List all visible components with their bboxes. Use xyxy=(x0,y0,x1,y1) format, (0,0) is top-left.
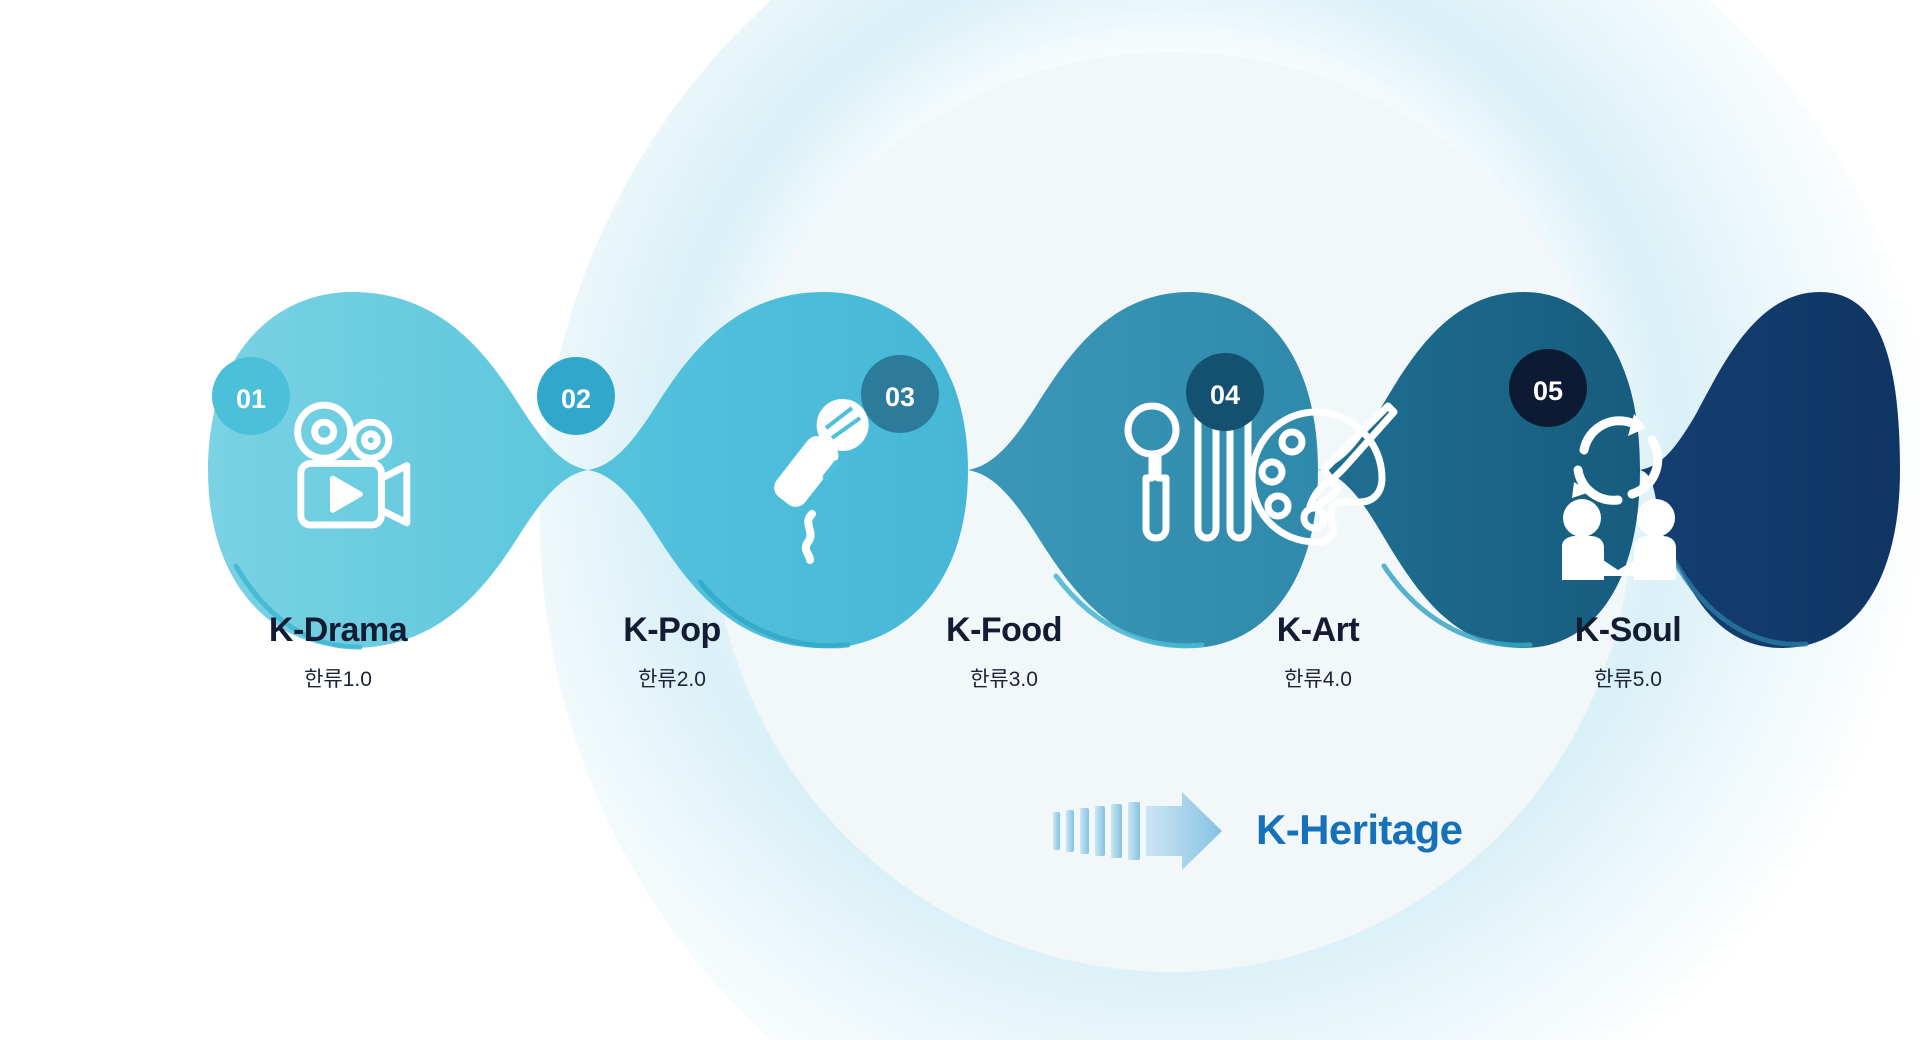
blob-shape-4 xyxy=(1318,292,1640,648)
badge-label-02: 02 xyxy=(561,384,591,414)
wave-chain: 01 02 03 04 05 xyxy=(0,0,1920,1040)
node-blob-k-art[interactable] xyxy=(1318,292,1640,648)
heritage-label: K-Heritage xyxy=(1256,806,1462,854)
node-badge-03[interactable]: 03 xyxy=(861,355,939,433)
badge-label-05: 05 xyxy=(1533,376,1563,406)
blob-shape-2 xyxy=(588,292,968,648)
node-badge-04[interactable]: 04 xyxy=(1186,353,1264,431)
badge-label-04: 04 xyxy=(1210,380,1240,410)
badge-label-03: 03 xyxy=(885,382,915,412)
badge-label-01: 01 xyxy=(236,384,266,414)
infographic-canvas: 01 02 03 04 05 K- xyxy=(0,0,1920,1040)
node-blob-k-pop[interactable] xyxy=(588,292,968,648)
heritage-arrow-spacer xyxy=(1040,790,1230,870)
blob-shape-5 xyxy=(1640,292,1900,648)
node-badge-01[interactable]: 01 xyxy=(212,357,290,435)
heritage-footer: K-Heritage xyxy=(1040,790,1462,870)
node-blob-k-soul[interactable] xyxy=(1640,292,1900,648)
node-badge-02[interactable]: 02 xyxy=(537,357,615,435)
node-badge-05[interactable]: 05 xyxy=(1509,349,1587,427)
